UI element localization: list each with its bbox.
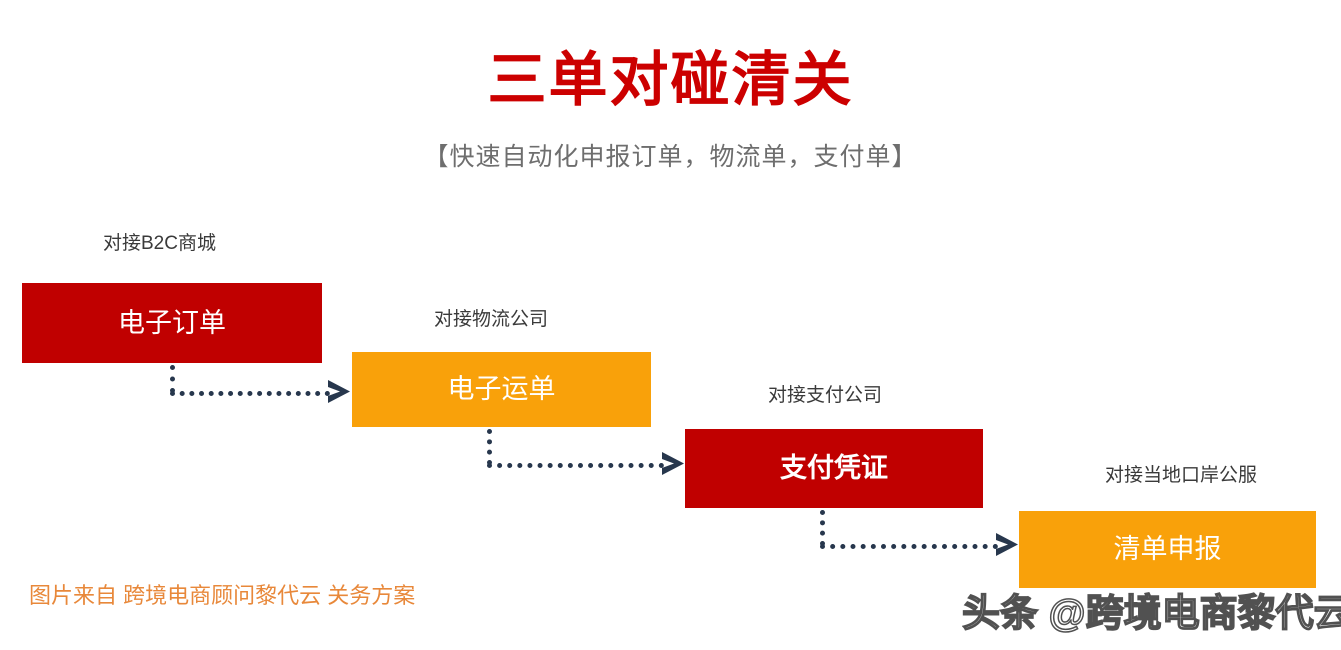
credit-text: 图片来自 跨境电商顾问黎代云 关务方案 (29, 583, 415, 609)
infographic-canvas: 三单对碰清关 【快速自动化申报订单，物流单，支付单】 对接B2C商城 电子订单 … (0, 0, 1341, 650)
page-title: 三单对碰清关 (0, 48, 1341, 113)
watermark-text: 头条 @跨境电商黎代云 (962, 592, 1341, 638)
flow-node-1-box[interactable]: 电子订单 (22, 283, 322, 363)
flow-node-2-caption: 对接物流公司 (434, 310, 548, 329)
connector-1-vertical (170, 365, 175, 393)
connector-1-horizontal (170, 391, 330, 396)
connector-2-vertical (487, 429, 492, 465)
flow-node-1-caption: 对接B2C商城 (103, 234, 216, 253)
flow-node-2-box[interactable]: 电子运单 (352, 352, 651, 427)
connector-2-horizontal (487, 463, 664, 468)
connector-3-horizontal (820, 544, 998, 549)
flow-node-4-caption: 对接当地口岸公服 (1105, 466, 1257, 485)
page-subtitle: 【快速自动化申报订单，物流单，支付单】 (0, 142, 1341, 172)
flow-node-4-box[interactable]: 清单申报 (1019, 511, 1316, 588)
flow-node-3-box[interactable]: 支付凭证 (685, 429, 983, 508)
flow-node-3-caption: 对接支付公司 (768, 386, 882, 405)
connector-3-vertical (820, 510, 825, 546)
